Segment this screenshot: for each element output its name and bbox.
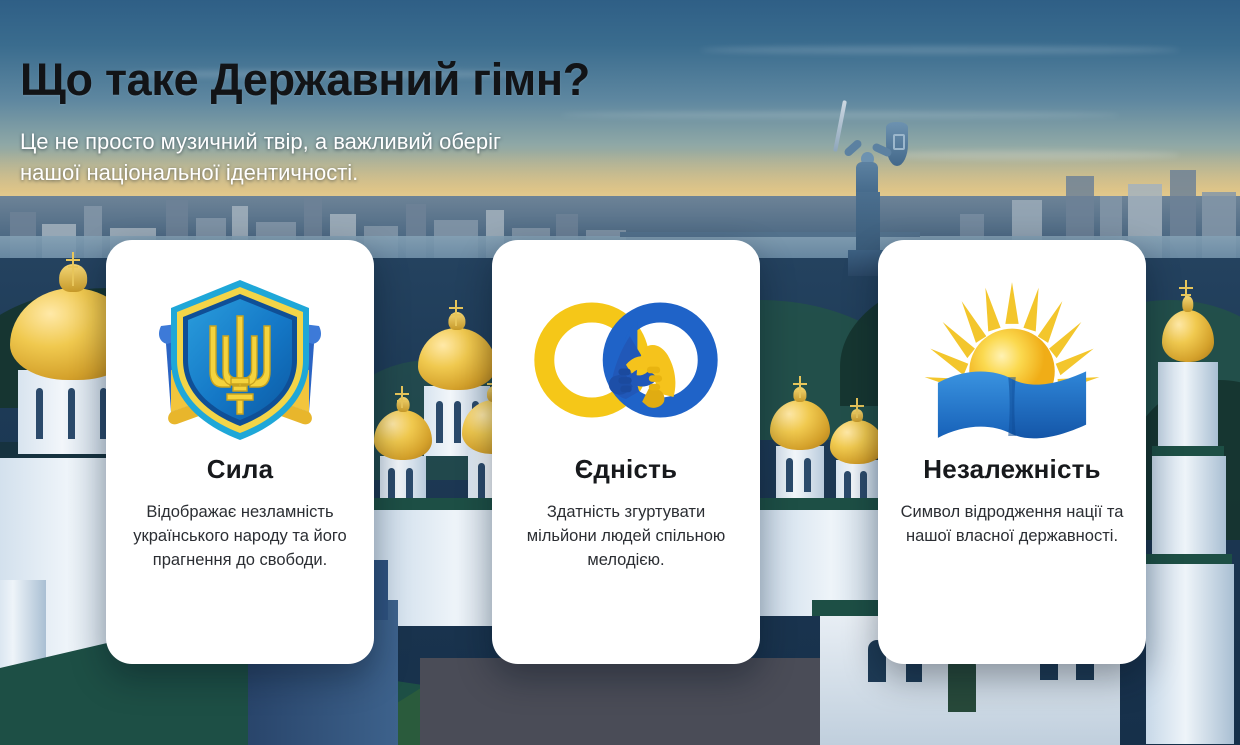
shield-trident-svg [147,274,333,446]
interlocking-rings-handshake-icon [531,270,721,450]
card-title: Сила [207,454,274,485]
rings-handshake-svg [531,295,721,425]
card-iednist[interactable]: Єдність Здатність згуртувати мільйони лю… [492,240,760,664]
shield-trident-icon [145,270,335,450]
card-title: Незалежність [923,454,1101,485]
card-title: Єдність [575,454,678,485]
sun-over-flag-icon [917,270,1107,450]
card-description: Відображає незламність українського наро… [124,501,356,573]
infographic-poster: Що таке Державний гімн? Це не просто муз… [0,0,1240,745]
card-description: Символ відродження нації та нашої власно… [896,501,1128,549]
card-sila[interactable]: Сила Відображає незламність українського… [106,240,374,664]
card-description: Здатність згуртувати мільйони людей спіл… [510,501,742,573]
sun-flag-svg [917,272,1107,448]
card-nezalezhnist[interactable]: Незалежність Символ відродження нації та… [878,240,1146,664]
feature-cards: Сила Відображає незламність українського… [0,0,1240,745]
